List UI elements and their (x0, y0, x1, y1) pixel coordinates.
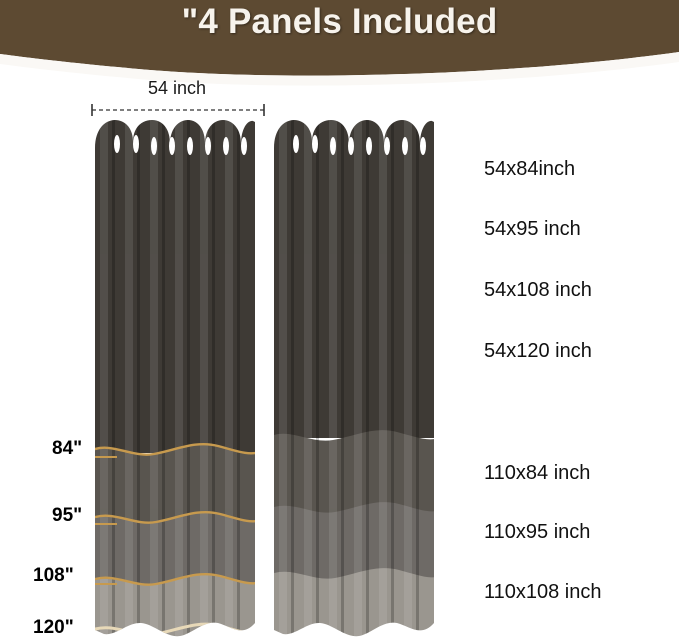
banner-title: "4 Panels Included (0, 2, 679, 42)
length-mark-120: 120" (33, 617, 74, 639)
width-dimension-label: 54 inch (92, 78, 262, 99)
product-size-infographic: "4 Panels Included 54 inch (0, 0, 679, 643)
length-mark-84: 84" (52, 438, 82, 460)
size-option-110x95: 110x95 inch (484, 521, 590, 544)
curtain-right-graphic (271, 118, 439, 643)
size-option-110x84: 110x84 inch (484, 462, 590, 485)
size-option-54x84: 54x84inch (484, 158, 575, 181)
size-option-110x108: 110x108 inch (484, 581, 602, 604)
leader-line-84 (95, 456, 117, 458)
size-option-54x108: 54x108 inch (484, 279, 592, 302)
leader-line-95 (95, 523, 117, 525)
size-option-54x120: 54x120 inch (484, 340, 592, 363)
curtain-panel-right (271, 118, 439, 643)
curtain-panel-left (92, 118, 260, 643)
length-mark-108: 108" (33, 565, 74, 587)
size-option-54x95: 54x95 inch (484, 218, 581, 241)
curtain-left-graphic (92, 118, 260, 643)
leader-line-108 (95, 583, 117, 585)
header-banner: "4 Panels Included (0, 0, 679, 86)
length-mark-95: 95" (52, 505, 82, 527)
width-dimension-line (90, 103, 266, 117)
